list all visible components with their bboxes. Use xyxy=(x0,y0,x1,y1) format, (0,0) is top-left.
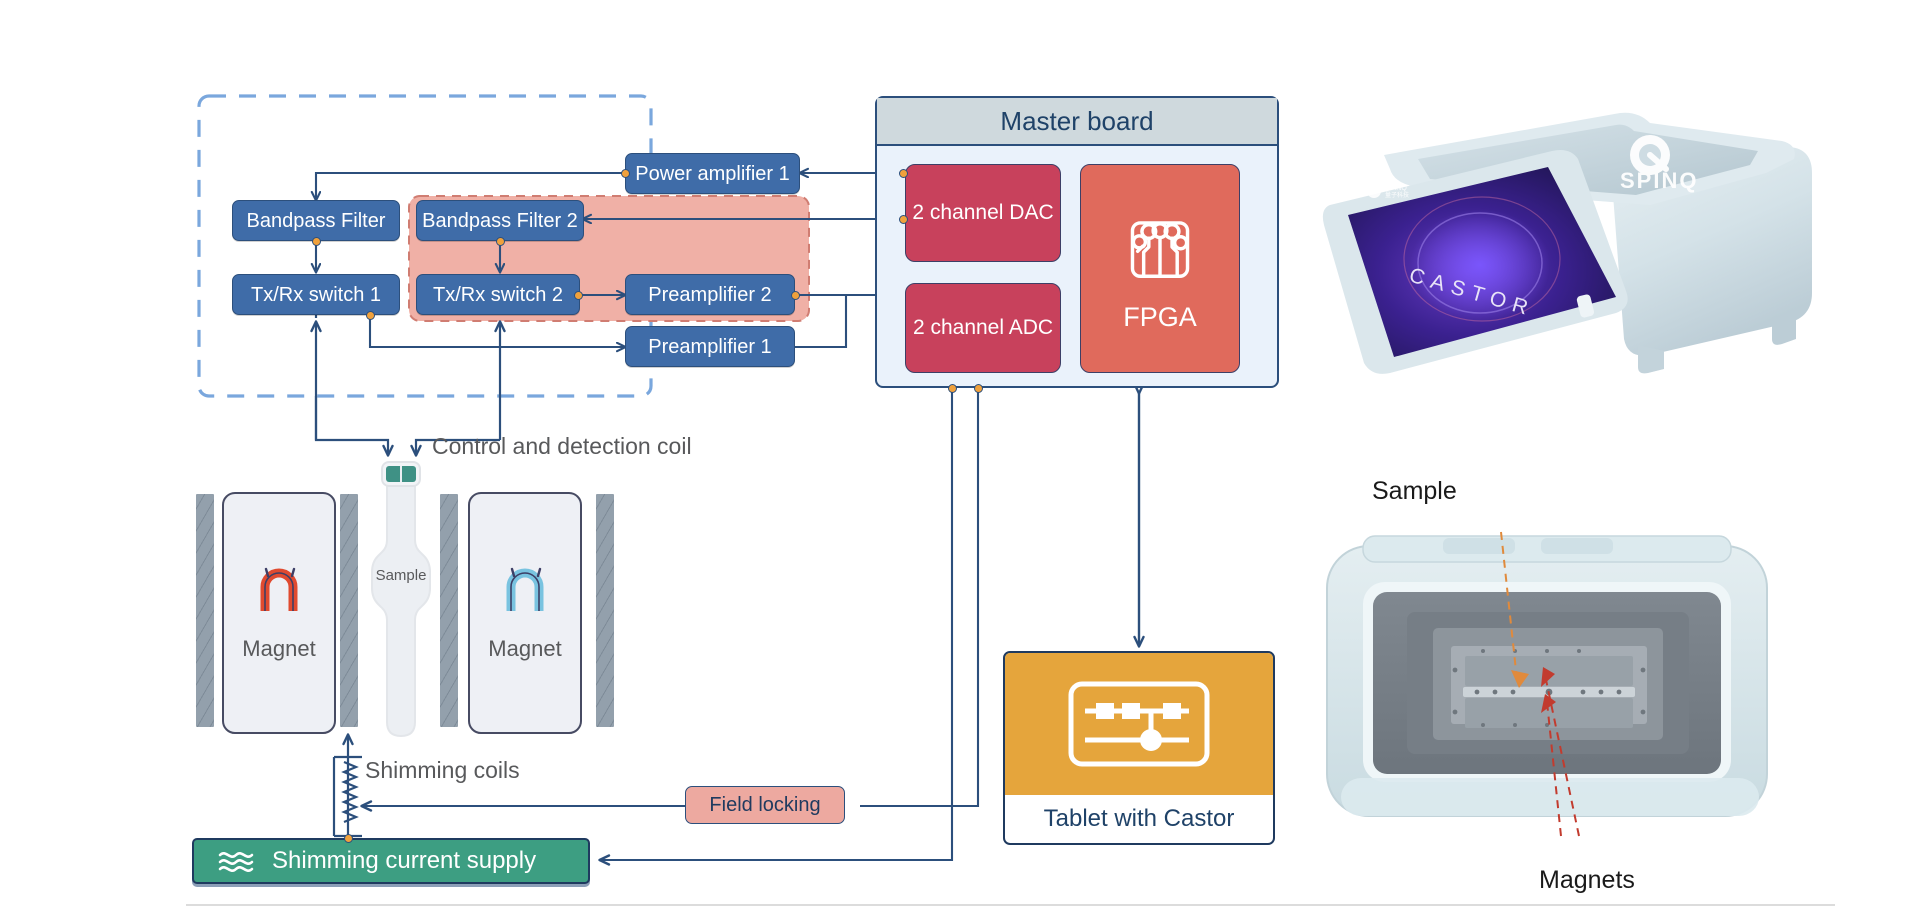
diagram-canvas: Bandpass Filter Bandpass Filter 2 Tx/Rx … xyxy=(0,0,1920,921)
annotation-label-magnets: Magnets xyxy=(1539,866,1635,895)
svg-text:SPINQ: SPINQ xyxy=(1385,185,1407,192)
svg-text:SPINQ: SPINQ xyxy=(1620,168,1698,193)
spinq-castor-device-photo: SPINQ CASTOR SPINQ 量子科技 xyxy=(1320,55,1840,385)
svg-text:量子科技: 量子科技 xyxy=(1385,191,1409,199)
annotation-label-sample: Sample xyxy=(1372,477,1457,506)
svg-text:Sample: Sample xyxy=(376,567,427,584)
device-interior-top-view-photo xyxy=(1315,520,1785,850)
